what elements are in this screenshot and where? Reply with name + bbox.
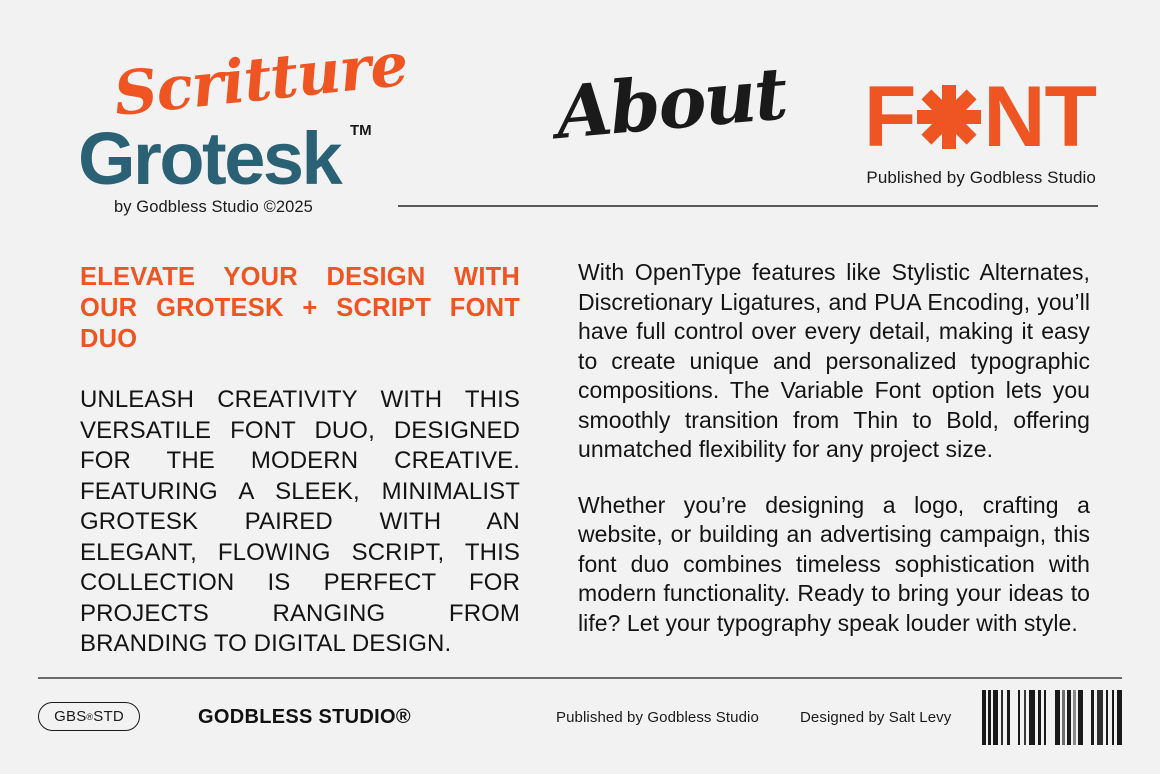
gbs-std-badge: GBS®STD [38, 702, 140, 731]
about-font-header: About F NT Published by Godbless Studio [556, 60, 1096, 190]
badge-registered-mark: ® [86, 712, 93, 722]
barcode-bar [1010, 690, 1017, 745]
logo-script-word: Scritture [111, 30, 411, 130]
footer-divider [38, 677, 1122, 679]
logo-byline: by Godbless Studio ©2025 [114, 198, 313, 217]
asterisk-starburst-icon [917, 85, 981, 149]
about-script-word: About [553, 50, 789, 155]
footer-published-credit: Published by Godbless Studio [556, 709, 759, 726]
barcode-icon [982, 690, 1122, 745]
barcode-bar [1046, 690, 1055, 745]
badge-prefix: GBS [54, 708, 86, 725]
footer-studio-name: GODBLESS STUDIO® [198, 706, 411, 729]
right-paragraph-2: Whether you’re designing a logo, craftin… [578, 491, 1090, 639]
left-body-paragraph: UNLEASH CREATIVITY WITH THIS VERSATILE F… [80, 385, 520, 660]
barcode-bar [1083, 690, 1090, 745]
footer-designer-credit: Designed by Salt Levy [800, 709, 951, 726]
left-headline: ELEVATE YOUR DESIGN WITH OUR GROTESK + S… [80, 262, 520, 355]
product-logo: Scritture Grotesk TM by Godbless Studio … [78, 62, 408, 212]
font-wordmark-suffix: NT [983, 74, 1096, 160]
logo-grotesk-word: Grotesk [78, 122, 340, 196]
header-divider [398, 205, 1098, 207]
badge-suffix: STD [93, 708, 124, 725]
trademark-mark: TM [350, 122, 372, 139]
header-published-by: Published by Godbless Studio [866, 168, 1096, 188]
footer-bar: GBS®STD GODBLESS STUDIO® Published by Go… [38, 700, 1122, 740]
left-text-column: ELEVATE YOUR DESIGN WITH OUR GROTESK + S… [80, 262, 520, 660]
font-specimen-poster: Scritture Grotesk TM by Godbless Studio … [0, 0, 1160, 774]
right-text-column: With OpenType features like Stylistic Al… [578, 258, 1090, 638]
font-wordmark: F NT [864, 74, 1096, 160]
barcode-bar [1117, 690, 1122, 745]
font-wordmark-prefix: F [864, 74, 916, 160]
right-paragraph-1: With OpenType features like Stylistic Al… [578, 258, 1090, 465]
